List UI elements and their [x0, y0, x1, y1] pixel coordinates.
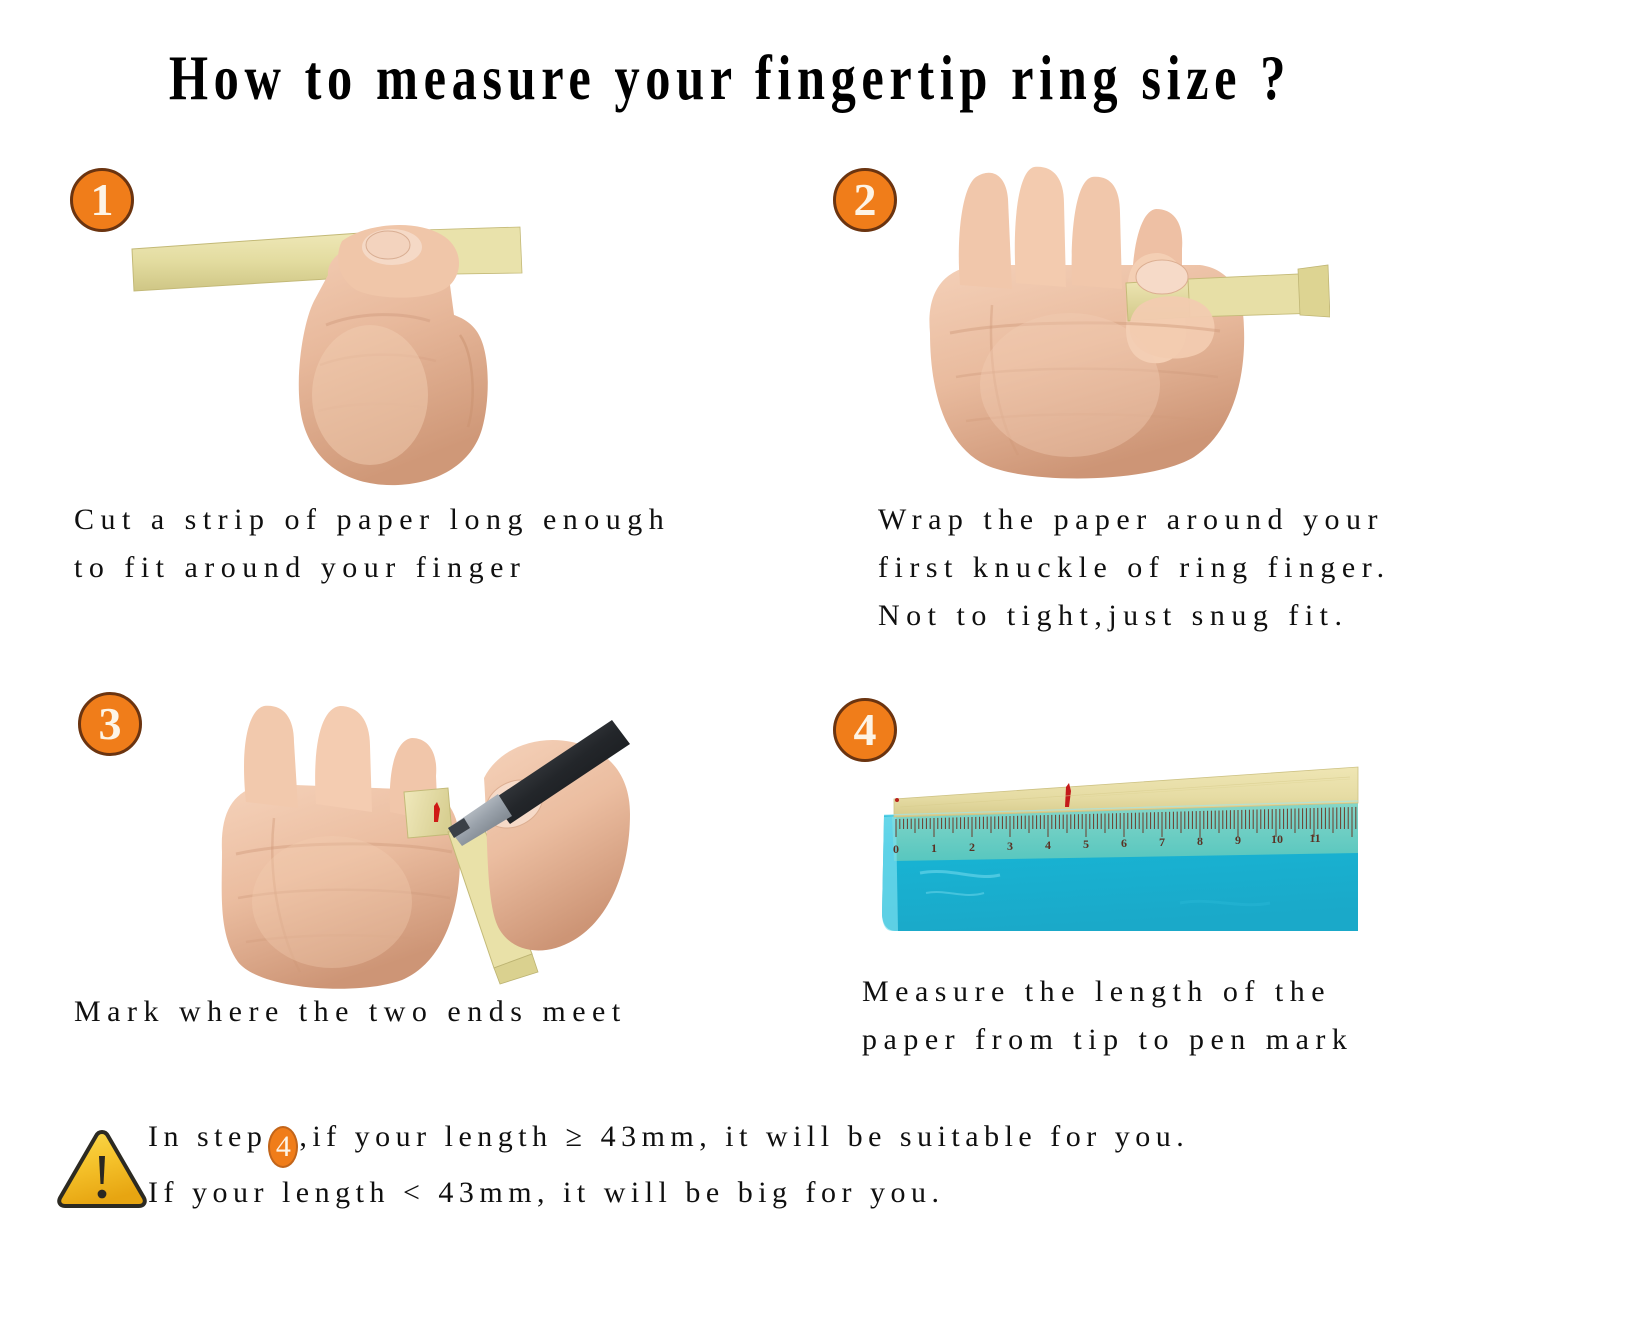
footer-note: In step4,if your length ≥ 43mm, it will … — [148, 1112, 1588, 1218]
step-3-illustration — [212, 672, 632, 992]
step-1-illustration — [130, 205, 640, 490]
step-4-badge: 4 — [833, 698, 897, 762]
ruler-label-8: 8 — [1197, 834, 1203, 848]
inline-step-badge: 4 — [268, 1126, 298, 1168]
step-2-badge: 2 — [833, 168, 897, 232]
ruler-label-2: 2 — [969, 840, 975, 854]
ruler-label-0: 0 — [893, 842, 899, 856]
footer-note-line-1: In step4,if your length ≥ 43mm, it will … — [148, 1112, 1588, 1168]
ruler-label-3: 3 — [1007, 839, 1013, 853]
ruler-label-9: 9 — [1235, 833, 1241, 847]
footer-note-suffix: ,if your length ≥ 43mm, it will be suita… — [299, 1120, 1189, 1153]
footer-note-line-2: If your length < 43mm, it will be big fo… — [148, 1168, 1588, 1218]
warning-triangle-icon — [56, 1126, 148, 1210]
ruler-label-7: 7 — [1159, 835, 1165, 849]
step-3-badge: 3 — [78, 692, 142, 756]
page-title: How to measure your fingertip ring size … — [146, 42, 1314, 115]
step-3-caption: Mark where the two ends meet — [74, 988, 834, 1036]
step-2-caption: Wrap the paper around your first knuckle… — [878, 496, 1598, 640]
ruler-label-11: 11 — [1309, 831, 1320, 845]
step-1-caption: Cut a strip of paper long enough to fit … — [74, 496, 834, 592]
step-4-caption: Measure the length of the paper from tip… — [862, 968, 1562, 1064]
ruler-label-4: 4 — [1045, 838, 1051, 852]
ruler-label-10: 10 — [1271, 832, 1283, 846]
step-4-illustration: 0 1 2 3 4 5 6 7 8 9 10 11 — [880, 763, 1360, 943]
ruler-label-6: 6 — [1121, 836, 1127, 850]
step-1-badge: 1 — [70, 168, 134, 232]
footer-note-prefix: In step — [148, 1120, 267, 1153]
ruler-label-1: 1 — [931, 841, 937, 855]
ruler-label-5: 5 — [1083, 837, 1089, 851]
step-2-illustration — [900, 165, 1330, 490]
